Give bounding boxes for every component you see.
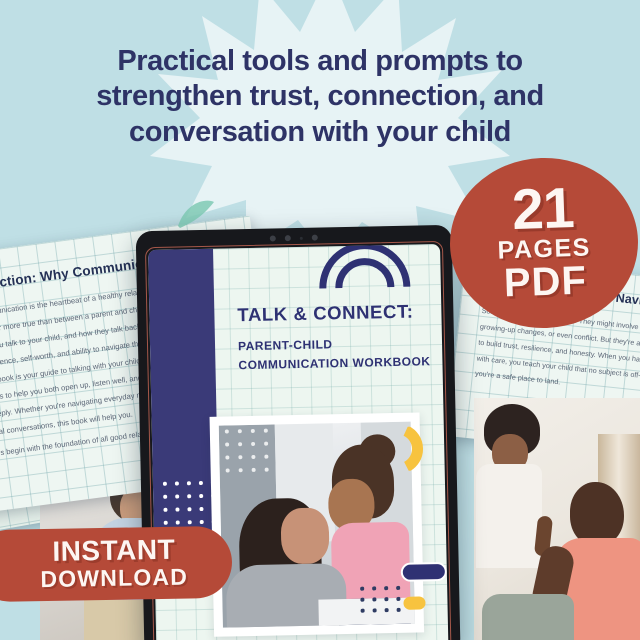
photo-father-and-child: [474, 398, 640, 640]
concentric-arc-rings-icon: [315, 244, 413, 293]
headline-line-1: Practical tools and prompts to: [0, 44, 640, 79]
download-badge-line-2: DOWNLOAD: [18, 563, 188, 592]
dot-pattern-icon: [225, 428, 278, 481]
instant-download-badge: INSTANT DOWNLOAD: [0, 526, 233, 602]
camera-dot-icon: [270, 235, 318, 242]
photo-mother-and-daughter: [219, 422, 415, 628]
yellow-pill-icon: [403, 596, 425, 609]
promo-graphic: Practical tools and prompts to strengthe…: [0, 0, 640, 640]
headline-line-3: conversation with your child: [0, 115, 640, 150]
badge-format-label: PDF: [503, 260, 587, 304]
yellow-arc-icon: [402, 426, 437, 471]
dot-pattern-icon: [360, 586, 409, 620]
download-badge-line-1: INSTANT: [30, 536, 175, 567]
page-title: Practical tools and prompts to strengthe…: [0, 44, 640, 150]
headline-line-2: strengthen trust, connection, and: [0, 79, 640, 114]
badge-page-number: 21: [511, 182, 574, 237]
cover-title: TALK & CONNECT:: [237, 300, 427, 326]
cover-photo-frame: [210, 412, 425, 636]
cover-title-block: TALK & CONNECT: PARENT-CHILD COMMUNICATI…: [237, 300, 428, 374]
leaf-icon: [176, 196, 216, 230]
cover-subtitle-2: COMMUNICATION WORKBOOK: [238, 352, 428, 375]
navy-pill-icon: [401, 562, 447, 582]
